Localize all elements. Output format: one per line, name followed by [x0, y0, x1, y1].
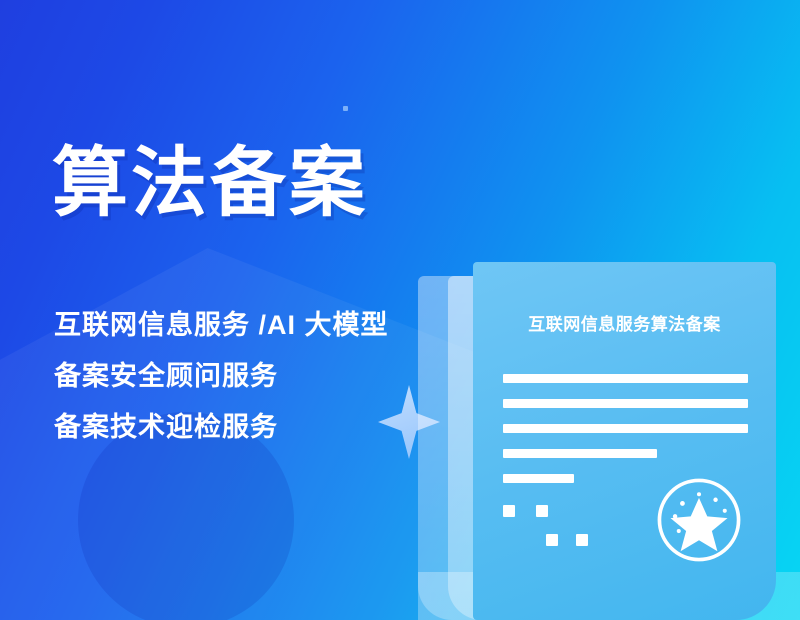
- document-marker-square: [546, 534, 558, 546]
- subtitle-line-3: 备案技术迎检服务: [54, 402, 454, 453]
- document-marker-square: [503, 505, 515, 517]
- document-marker-square: [536, 505, 548, 517]
- document-text-line: [503, 474, 574, 483]
- subtitle-line-2: 备案安全顾问服务: [54, 351, 454, 402]
- subtitle-line-1: 互联网信息服务 /AI 大模型: [54, 300, 454, 351]
- document-marker-row-2: [546, 534, 588, 546]
- promo-banner: 算法备案 互联网信息服务 /AI 大模型 备案安全顾问服务 备案技术迎检服务 互…: [0, 0, 800, 620]
- document-card-title: 互联网信息服务算法备案: [473, 310, 776, 335]
- document-text-line: [503, 449, 657, 458]
- document-card-front: 互联网信息服务算法备案: [473, 262, 776, 620]
- document-text-line: [503, 374, 748, 383]
- subtitle-list: 互联网信息服务 /AI 大模型 备案安全顾问服务 备案技术迎检服务: [54, 300, 454, 453]
- document-marker-square: [576, 534, 588, 546]
- page-title: 算法备案: [52, 146, 368, 222]
- star-seal-icon: [653, 474, 745, 566]
- background-dot: [343, 106, 348, 111]
- document-text-line: [503, 424, 748, 433]
- document-marker-row-1: [503, 505, 548, 517]
- document-card-stack: 互联网信息服务算法备案: [418, 262, 800, 620]
- document-text-line: [503, 399, 748, 408]
